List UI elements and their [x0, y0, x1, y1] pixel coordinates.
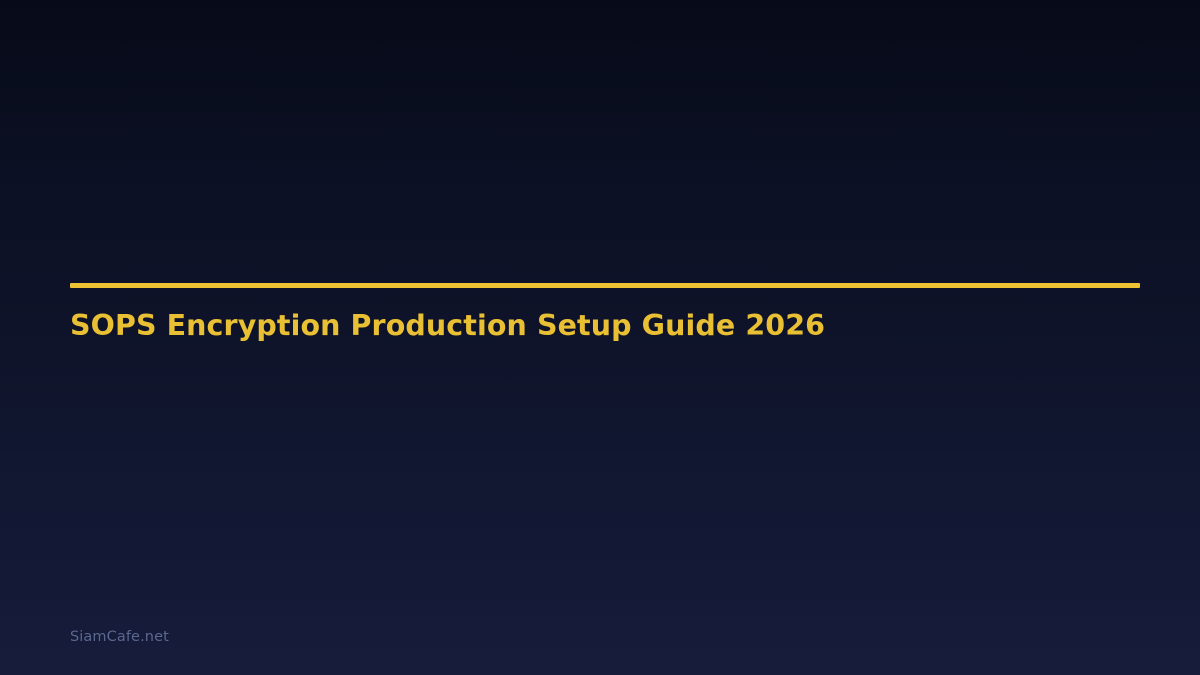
page-title: SOPS Encryption Production Setup Guide 2…: [70, 288, 1140, 343]
title-slide: SOPS Encryption Production Setup Guide 2…: [0, 0, 1200, 675]
footer-watermark: SiamCafe.net: [70, 630, 169, 645]
title-block: SOPS Encryption Production Setup Guide 2…: [70, 283, 1140, 343]
